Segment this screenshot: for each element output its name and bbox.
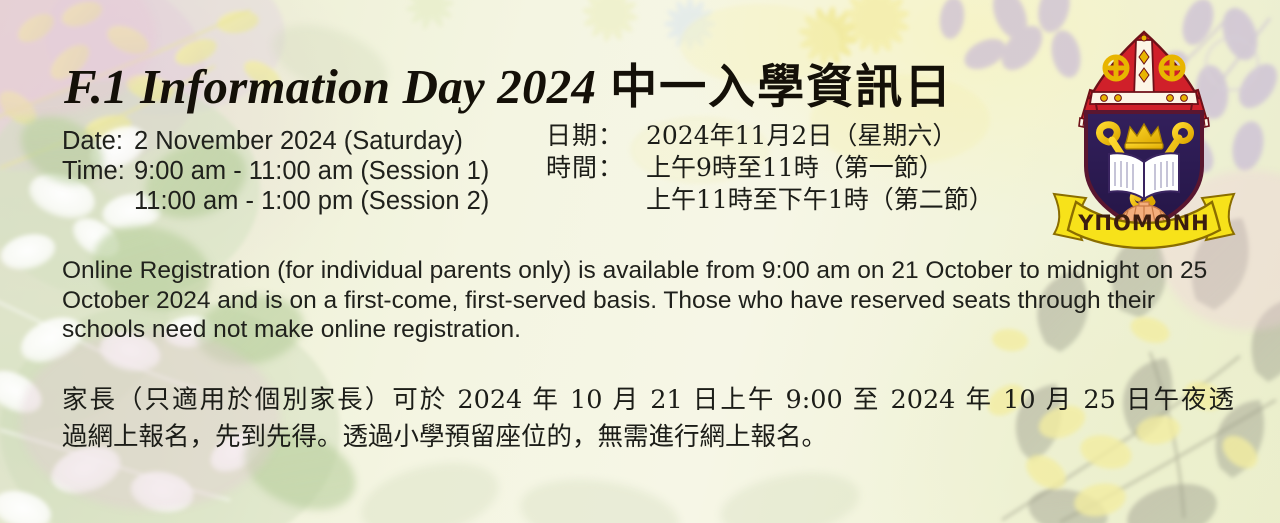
title-chinese: 中一入學資訊日 [610,60,953,115]
time-row-chinese-2: 上午11時至下午1時（第二節） [546,184,994,216]
time-label-english: Time: [62,156,134,186]
date-row-english: Date: 2 November 2024 (Saturday) [62,126,489,156]
paragraph-chinese-line-1: 家長（只適用於個別家長）可於 2024 年 10 月 21 日上午 9:00 至… [62,382,1234,419]
crown-icon [1125,124,1163,149]
time-row-english-2: 11:00 am - 1:00 pm (Session 2) [62,186,489,216]
registration-paragraph-english: Online Registration (for individual pare… [62,256,1230,345]
details-chinese: 日期： 2024年11月2日（星期六） 時間： 上午9時至11時（第一節） 上午… [546,120,994,216]
time-label-chinese: 時間： [546,152,646,184]
details-english: Date: 2 November 2024 (Saturday) Time: 9… [62,126,489,216]
information-day-banner: F.1 Information Day 2024中一入學資訊日 Date: 2 … [0,0,1280,523]
time-label-chinese-blank [546,184,646,216]
date-label-english: Date: [62,126,134,156]
mitre-cross-left [1105,57,1127,79]
time-label-english-blank [62,186,134,216]
page-title: F.1 Information Day 2024中一入學資訊日 [64,48,1064,117]
paragraph-chinese-line-2: 過網上報名，先到先得。透過小學預留座位的，無需進行網上報名。 [62,419,1234,456]
mitre-cross-right [1161,57,1183,79]
date-value-english: 2 November 2024 (Saturday) [134,126,463,156]
time-row-english-1: Time: 9:00 am - 11:00 am (Session 1) [62,156,489,186]
date-value-chinese: 2024年11月2日（星期六） [646,120,957,152]
time-value-chinese-1: 上午9時至11時（第一節） [646,152,944,184]
time-value-chinese-2: 上午11時至下午1時（第二節） [646,184,994,216]
time-row-chinese-1: 時間： 上午9時至11時（第一節） [546,152,994,184]
date-row-chinese: 日期： 2024年11月2日（星期六） [546,120,994,152]
date-label-chinese: 日期： [546,120,646,152]
time-value-english-2: 11:00 am - 1:00 pm (Session 2) [134,186,489,216]
motto-text: ΥΠΟΜΟΝΗ [1077,211,1210,235]
registration-paragraph-chinese: 家長（只適用於個別家長）可於 2024 年 10 月 21 日上午 9:00 至… [62,382,1234,456]
school-crest: ΥΠΟΜΟΝΗ [1046,26,1242,250]
title-english: F.1 Information Day 2024 [64,59,596,114]
time-value-english-1: 9:00 am - 11:00 am (Session 1) [134,156,489,186]
